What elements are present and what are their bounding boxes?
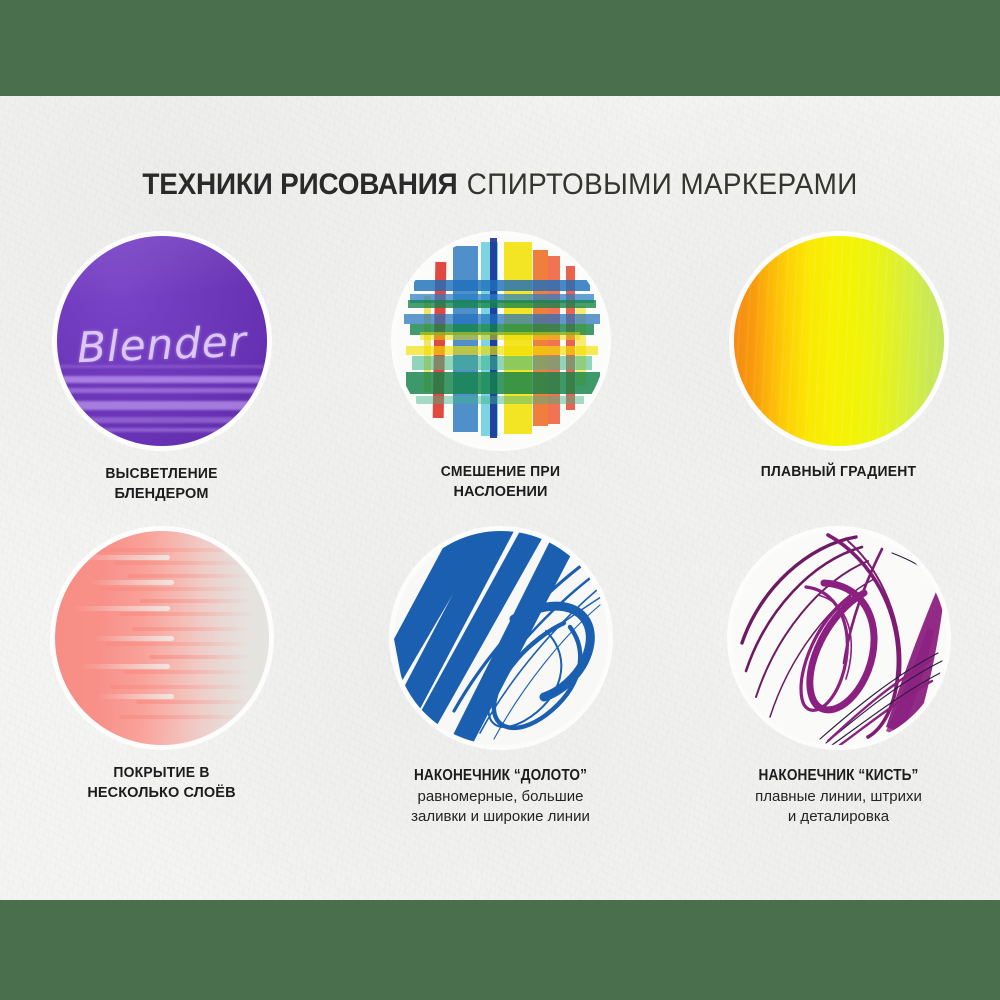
caption-line1: ВЫСВЕТЛЕНИЕ [2, 466, 322, 484]
caption-line1: НАКОНЕЧНИК “КИСТЬ” [692, 767, 985, 786]
blender-word: Blender [57, 316, 267, 373]
caption-line1: СМЕШЕНИЕ ПРИ [341, 464, 661, 482]
caption-sub-line2: и деталировка [672, 808, 1000, 826]
caption-layer-mixing: СМЕШЕНИЕ ПРИ НАСЛОЕНИИ [334, 464, 667, 501]
caption-smooth-gradient: ПЛАВНЫЙ ГРАДИЕНТ [672, 464, 1000, 482]
swatch-blender: Blender [57, 236, 267, 446]
caption-multiple-layers: ПОКРЫТИЕ В НЕСКОЛЬКО СЛОЁВ [0, 765, 328, 802]
caption-blender: ВЫСВЕТЛЕНИЕ БЛЕНДЕРОМ [0, 466, 328, 503]
technique-card-smooth-gradient: ПЛАВНЫЙ ГРАДИЕНТ [672, 236, 1000, 482]
caption-line2: БЛЕНДЕРОМ [0, 486, 328, 504]
crosshatch-art [396, 236, 606, 446]
caption-line1: ПОКРЫТИЕ В [2, 765, 322, 783]
caption-sub-line1: равномерные, большие [334, 788, 667, 806]
swatch-smooth-gradient [734, 236, 944, 446]
technique-card-multiple-layers: ПОКРЫТИЕ В НЕСКОЛЬКО СЛОЁВ [0, 531, 328, 802]
caption-line1: ПЛАВНЫЙ ГРАДИЕНТ [679, 464, 999, 482]
technique-card-chisel-nib: НАКОНЕЧНИК “ДОЛОТО” равномерные, большие… [334, 531, 667, 827]
chisel-art [394, 531, 608, 745]
technique-card-blender: Blender ВЫСВЕТЛЕНИЕ БЛЕНДЕРОМ [0, 236, 328, 503]
bottom-green-band [0, 900, 1000, 1000]
caption-sub-line1: плавные линии, штрихи [672, 788, 1000, 806]
caption-line1: НАКОНЕЧНИК “ДОЛОТО” [354, 767, 647, 786]
caption-line2: НАСЛОЕНИИ [334, 484, 667, 502]
brush-art [732, 531, 946, 745]
technique-card-layer-mixing: СМЕШЕНИЕ ПРИ НАСЛОЕНИИ [334, 236, 667, 501]
swatch-multiple-layers [55, 531, 269, 745]
layer-streaks [55, 531, 269, 745]
poster: ТЕХНИКИ РИСОВАНИЯСПИРТОВЫМИ МАРКЕРАМИ Bl… [0, 0, 1000, 1000]
technique-grid: Blender ВЫСВЕТЛЕНИЕ БЛЕНДЕРОМ [0, 0, 1000, 900]
swatch-layer-mixing [396, 236, 606, 446]
caption-sub-line2: заливки и широкие линии [334, 808, 667, 826]
swatch-brush-nib [732, 531, 946, 745]
caption-brush-nib: НАКОНЕЧНИК “КИСТЬ” плавные линии, штрихи… [672, 767, 1000, 827]
caption-chisel-nib: НАКОНЕЧНИК “ДОЛОТО” равномерные, большие… [334, 767, 667, 827]
caption-line2: НЕСКОЛЬКО СЛОЁВ [0, 785, 328, 803]
technique-card-brush-nib: НАКОНЕЧНИК “КИСТЬ” плавные линии, штрихи… [672, 531, 1000, 827]
swatch-chisel-nib [394, 531, 608, 745]
